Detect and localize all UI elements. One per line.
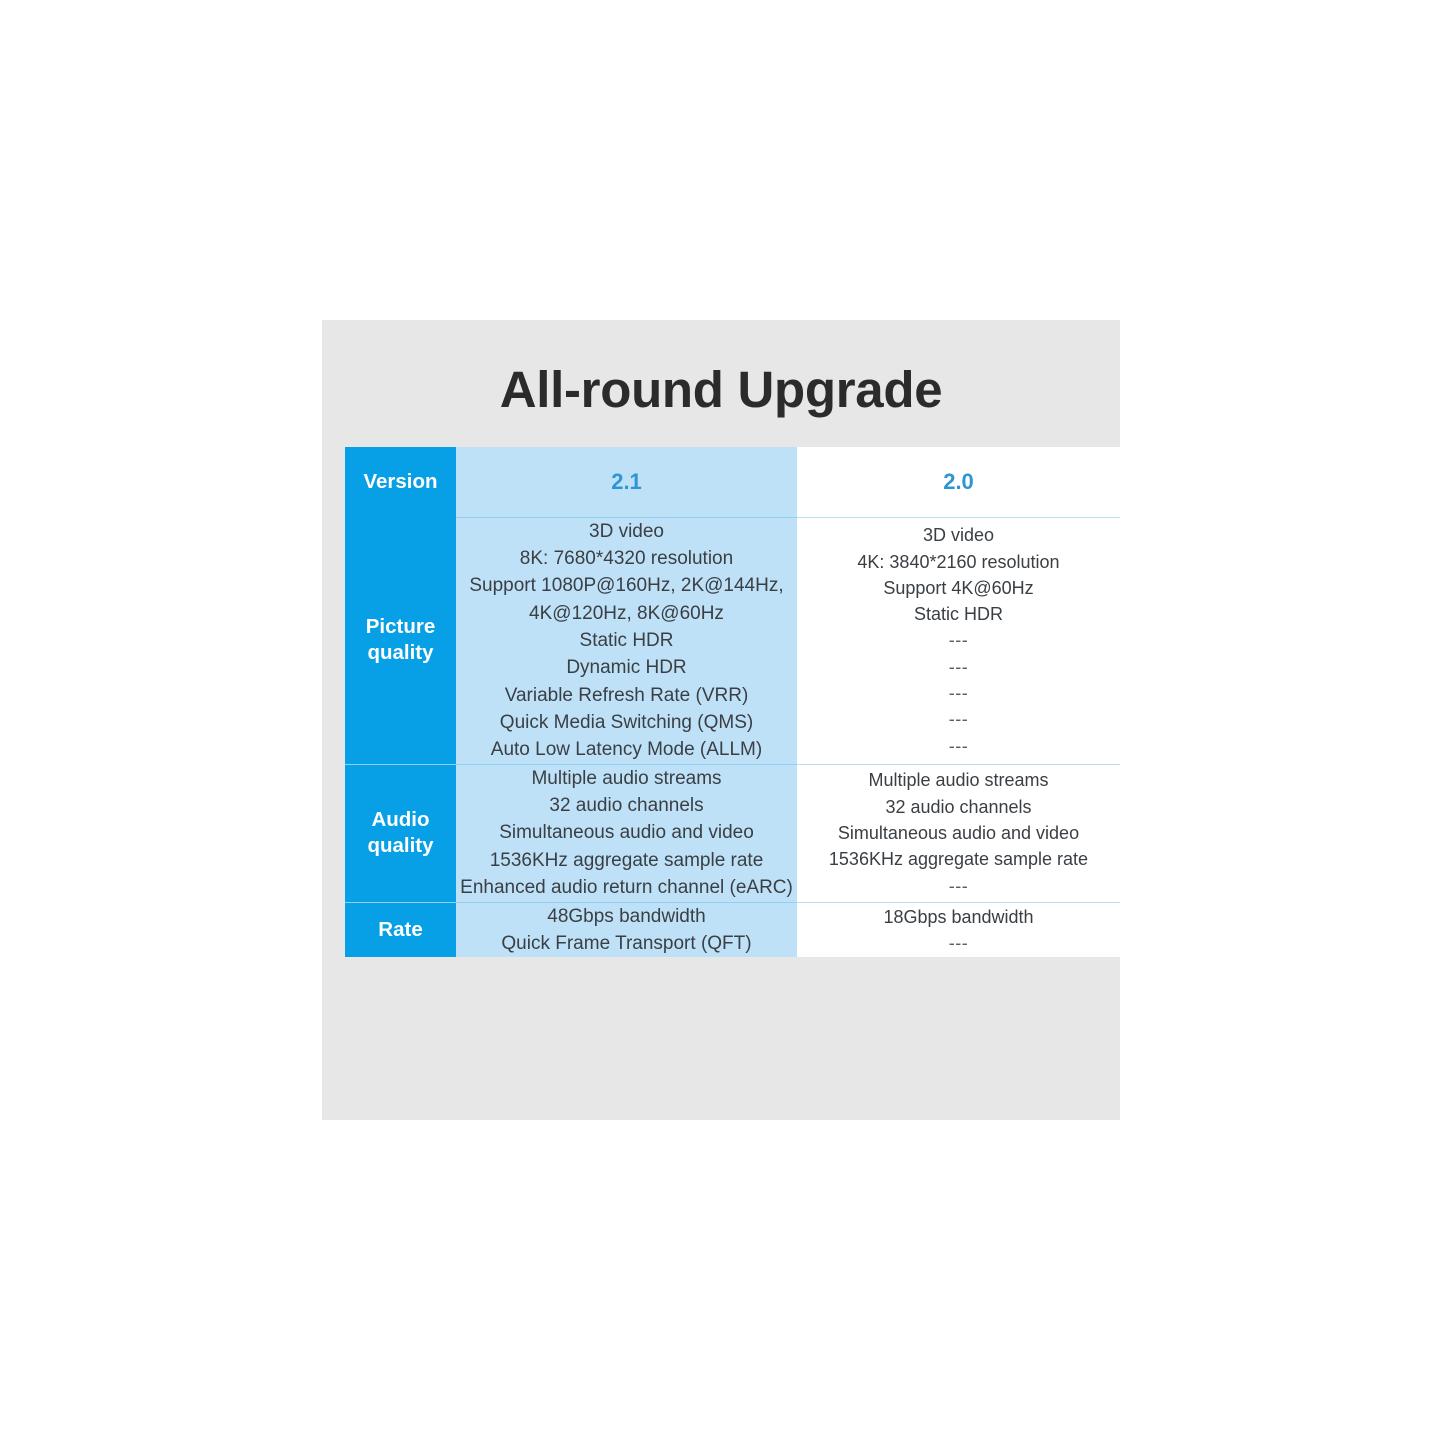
spec-line: Simultaneous audio and video (797, 820, 1120, 846)
row-cell-audio-quality-v20: Multiple audio streams32 audio channelsS… (797, 764, 1120, 902)
spec-line: Audio (345, 807, 456, 833)
spec-line: 1536KHz aggregate sample rate (456, 847, 797, 874)
spec-comparison-table: Version 2.1 2.0 Picturequality 3D video8… (345, 447, 1120, 957)
table-row: Picturequality 3D video8K: 7680*4320 res… (345, 517, 1120, 764)
row-label-rate: Rate (345, 902, 456, 957)
table-header-row: Version 2.1 2.0 (345, 447, 1120, 517)
spec-line: Dynamic HDR (456, 654, 797, 681)
row-cell-picture-quality-v20: 3D video4K: 3840*2160 resolutionSupport … (797, 517, 1120, 764)
empty-value-dash: --- (797, 733, 1120, 759)
spec-line: Static HDR (456, 627, 797, 654)
spec-line: Quick Media Switching (QMS) (456, 709, 797, 736)
spec-line: Multiple audio streams (797, 767, 1120, 793)
row-label-picture-quality: Picturequality (345, 517, 456, 764)
spec-line: Support 1080P@160Hz, 2K@144Hz, (456, 572, 797, 599)
spec-line: 4K@120Hz, 8K@60Hz (456, 600, 797, 627)
spec-line: Variable Refresh Rate (VRR) (456, 682, 797, 709)
page-root: All-round Upgrade Version 2.1 2.0 Pictur… (0, 0, 1440, 1440)
spec-line: Quick Frame Transport (QFT) (456, 930, 797, 957)
row-cell-rate-v21: 48Gbps bandwidthQuick Frame Transport (Q… (456, 902, 797, 957)
empty-value-dash: --- (797, 627, 1120, 653)
empty-value-dash: --- (797, 930, 1120, 956)
spec-line: Picture (345, 614, 456, 640)
spec-line: quality (345, 640, 456, 666)
page-title: All-round Upgrade (322, 362, 1120, 418)
comparison-card: All-round Upgrade Version 2.1 2.0 Pictur… (322, 320, 1120, 1120)
row-label-audio-quality: Audioquality (345, 764, 456, 902)
spec-line: 1536KHz aggregate sample rate (797, 846, 1120, 872)
empty-value-dash: --- (797, 706, 1120, 732)
row-cell-picture-quality-v21: 3D video8K: 7680*4320 resolutionSupport … (456, 517, 797, 764)
spec-line: 32 audio channels (456, 792, 797, 819)
spec-line: 3D video (797, 522, 1120, 548)
empty-value-dash: --- (797, 873, 1120, 899)
header-cell-version: Version (345, 447, 456, 517)
spec-line: Enhanced audio return channel (eARC) (456, 874, 797, 901)
spec-line: Simultaneous audio and video (456, 819, 797, 846)
row-cell-audio-quality-v21: Multiple audio streams32 audio channelsS… (456, 764, 797, 902)
table-row: Audioquality Multiple audio streams32 au… (345, 764, 1120, 902)
spec-line: 3D video (456, 518, 797, 545)
spec-line: Support 4K@60Hz (797, 575, 1120, 601)
spec-line: Multiple audio streams (456, 765, 797, 792)
spec-line: 18Gbps bandwidth (797, 904, 1120, 930)
spec-line: 4K: 3840*2160 resolution (797, 549, 1120, 575)
spec-line: 48Gbps bandwidth (456, 903, 797, 930)
spec-line: Auto Low Latency Mode (ALLM) (456, 736, 797, 763)
row-cell-rate-v20: 18Gbps bandwidth--- (797, 902, 1120, 957)
spec-line: 32 audio channels (797, 794, 1120, 820)
table-row: Rate 48Gbps bandwidthQuick Frame Transpo… (345, 902, 1120, 957)
empty-value-dash: --- (797, 654, 1120, 680)
empty-value-dash: --- (797, 680, 1120, 706)
spec-line: 8K: 7680*4320 resolution (456, 545, 797, 572)
header-cell-v21: 2.1 (456, 447, 797, 517)
header-cell-v20: 2.0 (797, 447, 1120, 517)
spec-line: Rate (345, 917, 456, 943)
spec-line: Static HDR (797, 601, 1120, 627)
spec-line: quality (345, 833, 456, 859)
